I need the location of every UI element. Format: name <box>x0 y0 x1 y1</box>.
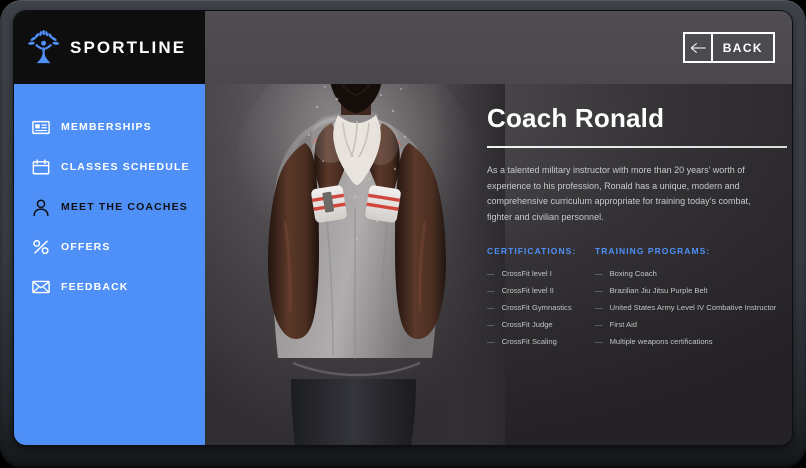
sidebar-item-memberships[interactable]: MEMBERSHIPS <box>14 107 205 147</box>
person-icon <box>31 198 50 217</box>
list-bullet: — <box>595 304 603 312</box>
list-item-label: Multiple weapons certifications <box>610 338 713 346</box>
brand-bar[interactable]: SPORTLINE <box>14 11 205 84</box>
list-bullet: — <box>595 287 603 295</box>
training-programs-list: — Boxing Coach — Brazilian Jiu Jitsu Pur… <box>595 270 779 346</box>
tree-person-logo-icon <box>27 30 61 66</box>
sidebar-item-label: OFFERS <box>61 241 111 253</box>
list-item-label: Boxing Coach <box>610 270 657 278</box>
arrow-left-icon[interactable] <box>685 34 713 61</box>
screen: SPORTLINE BACK <box>14 11 792 445</box>
list-item: — CrossFit level II <box>487 287 595 295</box>
top-bar: SPORTLINE BACK <box>14 11 792 84</box>
certifications-column: CERTIFICATIONS: — CrossFit level I — Cro… <box>487 246 595 355</box>
sidebar-item-meet-the-coaches[interactable]: MEET THE COACHES <box>14 187 205 227</box>
page-title: Coach Ronald <box>487 105 779 132</box>
list-item: — CrossFit Scaling <box>487 338 595 346</box>
list-item: — United States Army Level IV Combative … <box>595 304 779 312</box>
list-item: — First Aid <box>595 321 779 329</box>
sidebar: MEMBERSHIPS CLASSES SCHEDULE <box>14 84 205 445</box>
brand-name: SPORTLINE <box>70 38 186 58</box>
sidebar-item-feedback[interactable]: FEEDBACK <box>14 267 205 307</box>
list-item: — Multiple weapons certifications <box>595 338 779 346</box>
list-item: — Boxing Coach <box>595 270 779 278</box>
list-item: — CrossFit Judge <box>487 321 595 329</box>
sidebar-item-label: MEET THE COACHES <box>61 201 188 213</box>
back-button[interactable]: BACK <box>683 32 775 63</box>
sidebar-item-classes-schedule[interactable]: CLASSES SCHEDULE <box>14 147 205 187</box>
list-bullet: — <box>487 287 495 295</box>
coach-bio: As a talented military instructor with m… <box>487 163 755 225</box>
id-card-icon <box>31 118 50 137</box>
envelope-icon <box>31 278 50 297</box>
list-item-label: Brazilian Jiu Jitsu Purple Belt <box>610 287 708 295</box>
list-item: — Brazilian Jiu Jitsu Purple Belt <box>595 287 779 295</box>
list-item-label: CrossFit level II <box>502 287 554 295</box>
coach-detail: Coach Ronald As a talented military inst… <box>487 105 779 355</box>
list-item: — CrossFit level I <box>487 270 595 278</box>
certifications-list: — CrossFit level I — CrossFit level II —… <box>487 270 595 346</box>
coach-ronald-photo <box>205 84 505 445</box>
certifications-heading: CERTIFICATIONS: <box>487 246 595 256</box>
sidebar-item-label: CLASSES SCHEDULE <box>61 161 190 173</box>
percent-icon <box>31 238 50 257</box>
title-divider <box>487 146 787 148</box>
training-programs-heading: TRAINING PROGRAMS: <box>595 246 779 256</box>
content-area: Coach Ronald As a talented military inst… <box>205 84 792 445</box>
info-columns: CERTIFICATIONS: — CrossFit level I — Cro… <box>487 246 779 355</box>
list-bullet: — <box>487 321 495 329</box>
list-item-label: CrossFit Scaling <box>502 338 557 346</box>
list-bullet: — <box>487 270 495 278</box>
list-bullet: — <box>487 304 495 312</box>
list-bullet: — <box>595 270 603 278</box>
list-item-label: First Aid <box>610 321 637 329</box>
list-bullet: — <box>595 321 603 329</box>
training-programs-column: TRAINING PROGRAMS: — Boxing Coach — Braz… <box>595 246 779 355</box>
list-item-label: CrossFit level I <box>502 270 552 278</box>
sidebar-item-label: MEMBERSHIPS <box>61 121 152 133</box>
device-bezel: SPORTLINE BACK <box>0 0 806 468</box>
list-item: — CrossFit Gymnastics <box>487 304 595 312</box>
sidebar-item-offers[interactable]: OFFERS <box>14 227 205 267</box>
back-button-label: BACK <box>713 34 773 61</box>
calendar-icon <box>31 158 50 177</box>
list-bullet: — <box>595 338 603 346</box>
list-item-label: CrossFit Judge <box>502 321 553 329</box>
list-item-label: United States Army Level IV Combative In… <box>610 304 777 312</box>
sidebar-item-label: FEEDBACK <box>61 281 129 293</box>
list-item-label: CrossFit Gymnastics <box>502 304 572 312</box>
list-bullet: — <box>487 338 495 346</box>
